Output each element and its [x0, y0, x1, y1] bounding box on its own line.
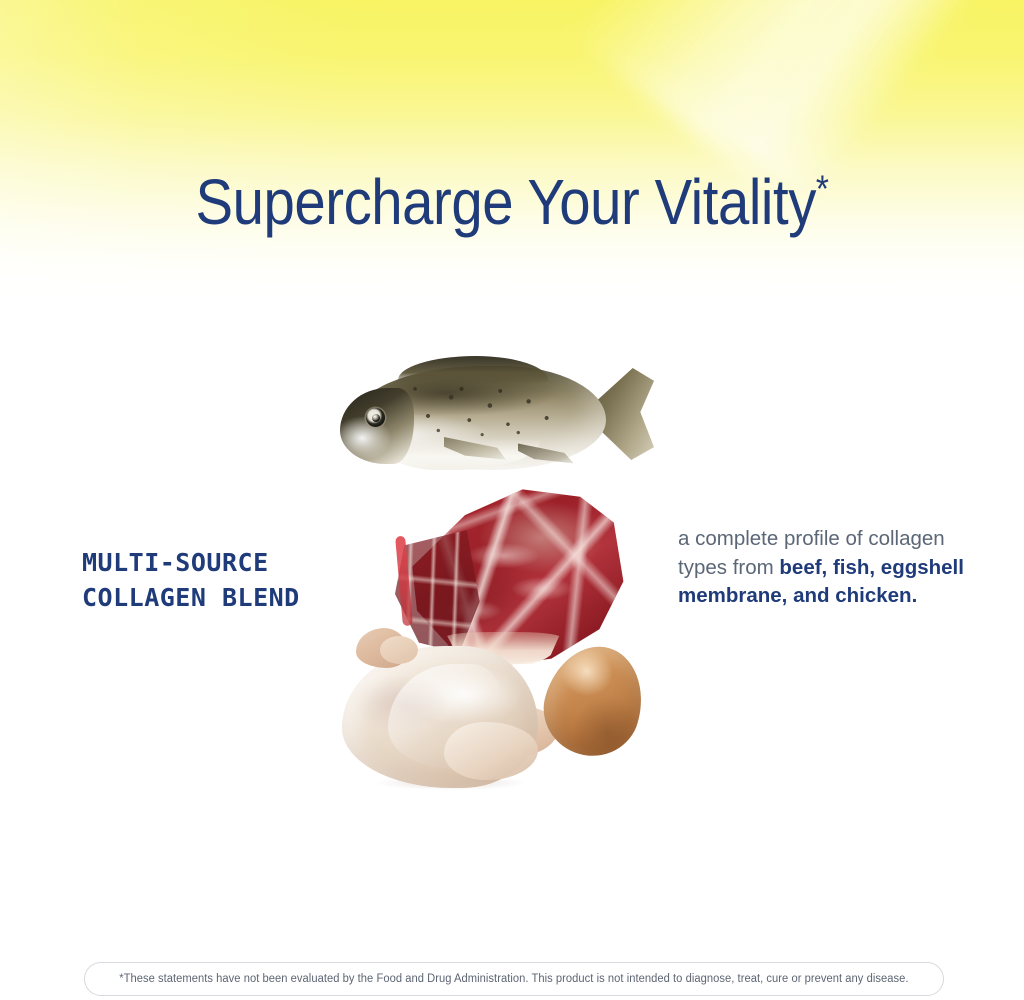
left-label-line-2: COLLAGEN BLEND [82, 581, 382, 616]
chicken-image [336, 626, 566, 802]
description-bold-1: beef, [779, 556, 827, 579]
ingredient-description: a complete profile of collagen types fro… [678, 525, 978, 611]
fda-disclaimer-text: *These statements have not been evaluate… [119, 973, 908, 985]
egg-icon [533, 635, 656, 767]
page-title-asterisk: * [816, 169, 829, 211]
page-title-text: Supercharge Your Vitality [195, 166, 815, 238]
fish-image [340, 358, 685, 483]
fish-dorsal-fin-icon [398, 356, 548, 384]
page-title: Supercharge Your Vitality* [61, 170, 962, 234]
left-label-line-1: MULTI-SOURCE [82, 546, 382, 581]
egg-image [540, 640, 650, 764]
chicken-neck-tip-icon [380, 636, 418, 664]
chicken-wing-icon [444, 722, 538, 780]
fda-disclaimer-pill: *These statements have not been evaluate… [84, 962, 944, 996]
fish-eye-icon [366, 408, 385, 427]
description-bold-3: and chicken. [793, 584, 917, 607]
hero-gradient-background [0, 0, 1024, 300]
multi-source-collagen-blend-label: MULTI-SOURCE COLLAGEN BLEND [82, 546, 382, 615]
marketing-banner: Supercharge Your Vitality* [0, 0, 1024, 1000]
description-plain-1: a complete profile of [678, 527, 863, 550]
